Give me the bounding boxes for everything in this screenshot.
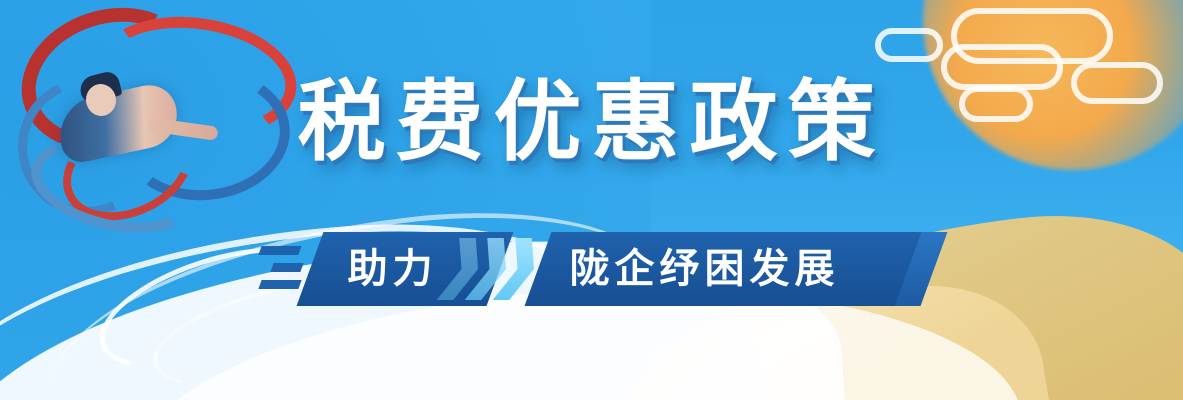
speed-mark-icon	[258, 246, 301, 255]
banner-headline: 税费优惠政策	[0, 78, 1183, 166]
banner-content: 税费优惠政策 助力 陇企纾困发展	[0, 0, 1183, 400]
banner-subtitle-ribbon: 助力 陇企纾困发展	[0, 232, 1183, 306]
speed-mark-icon	[270, 263, 303, 272]
subtitle-text-right: 陇企纾困发展	[570, 232, 840, 306]
speed-mark-icon	[258, 280, 301, 289]
subtitle-text-left: 助力	[348, 232, 438, 306]
promo-banner: 税费优惠政策 助力 陇企纾困发展	[0, 0, 1183, 400]
